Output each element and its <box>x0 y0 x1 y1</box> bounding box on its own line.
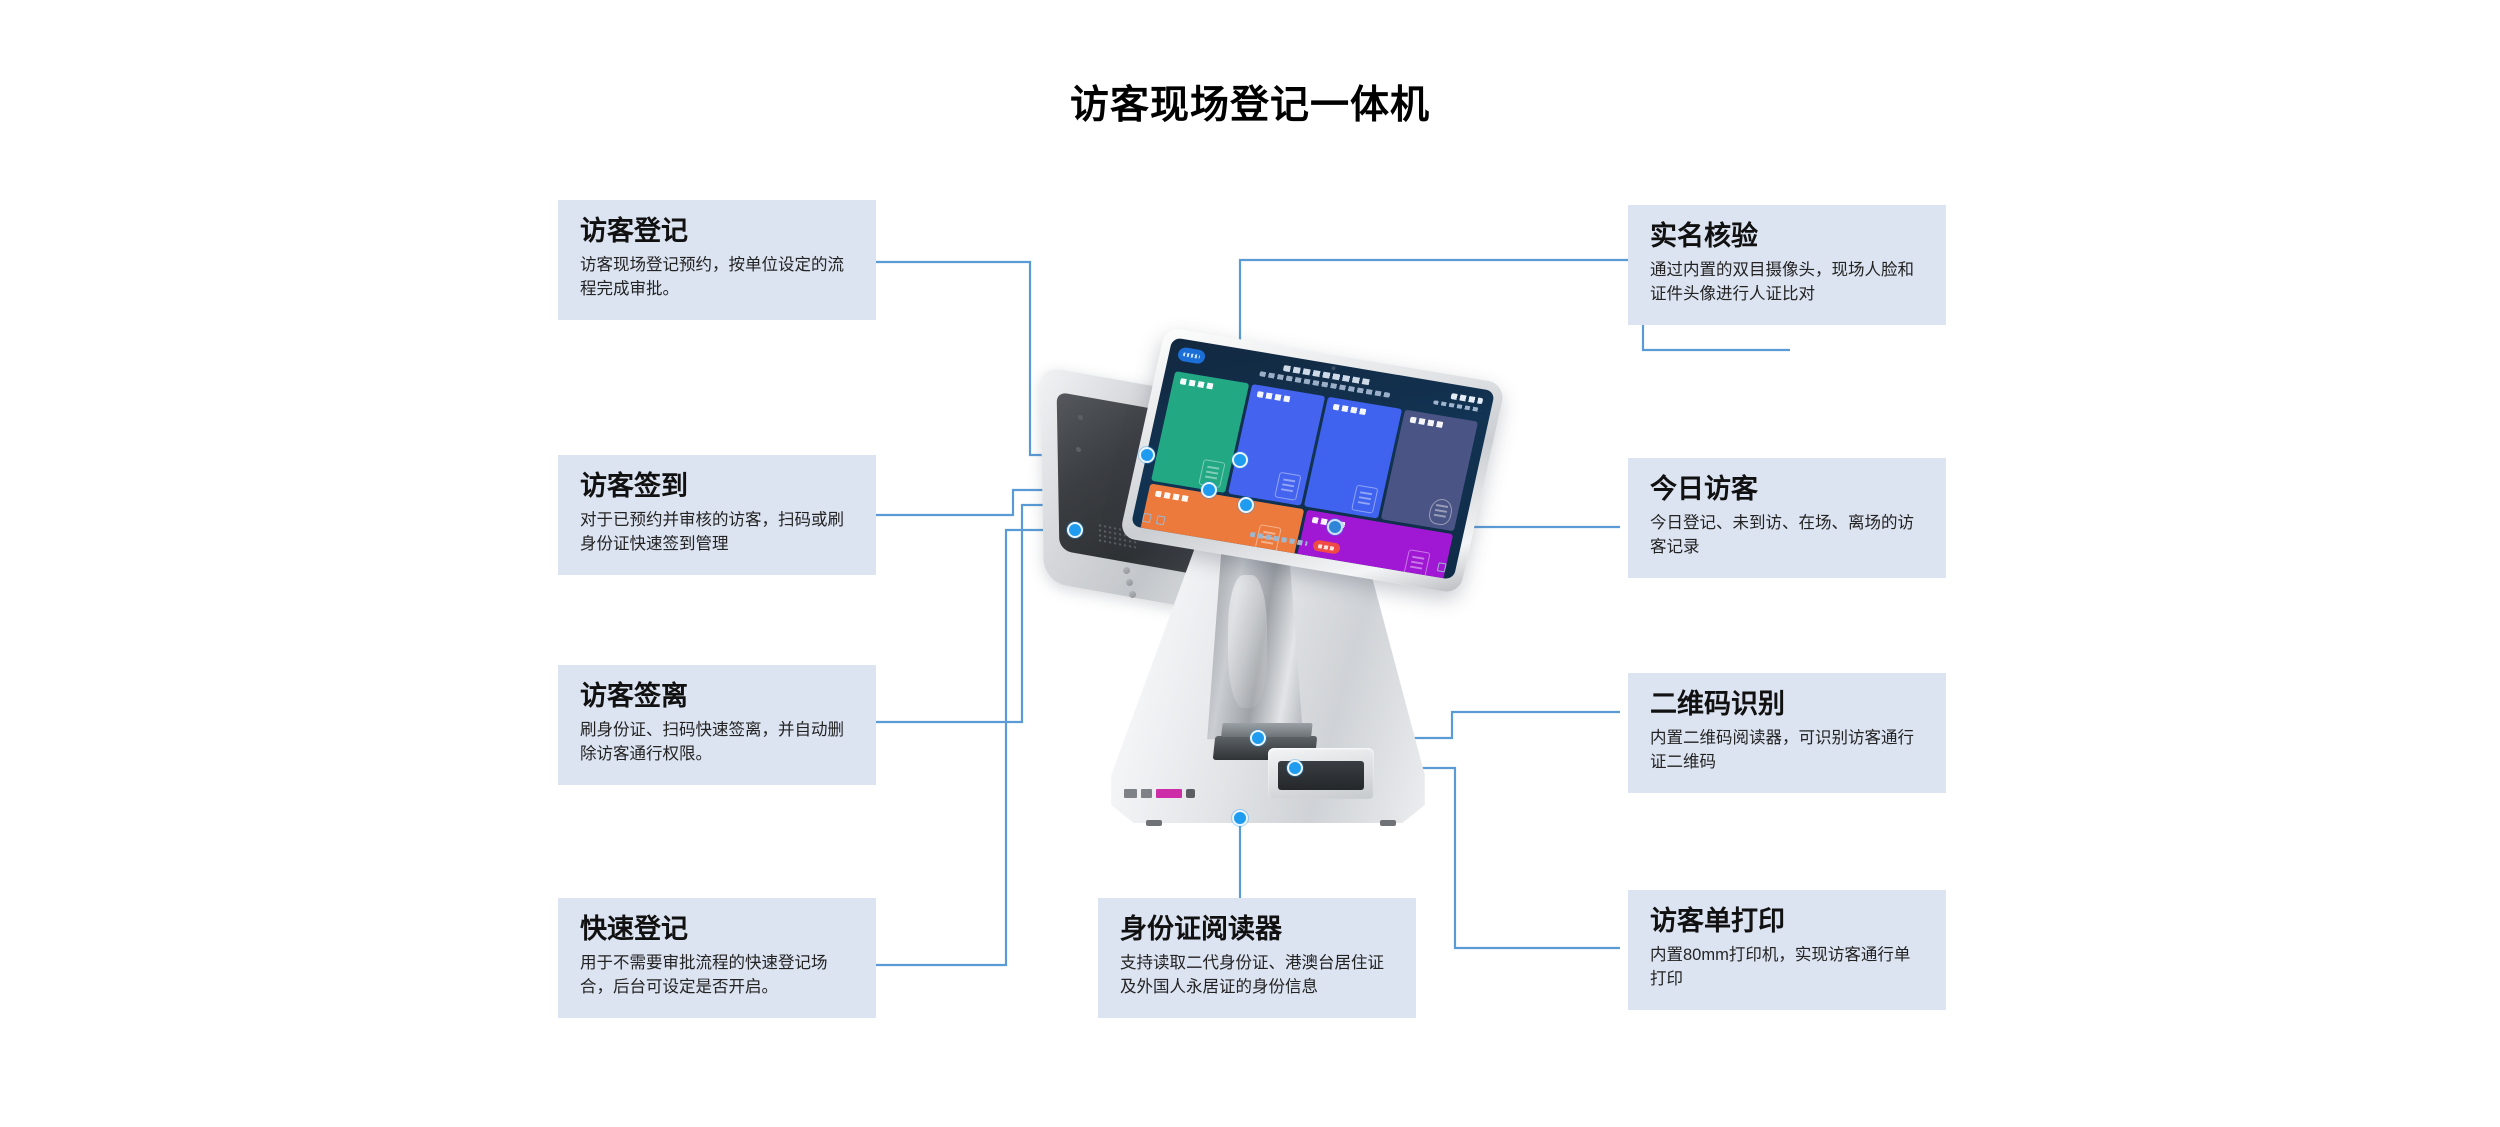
callout-desc: 今日登记、未到访、在场、离场的访客记录 <box>1650 511 1924 561</box>
callout-visitor-checkin[interactable]: 访客签到 对于已预约并审核的访客，扫码或刷身份证快速签到管理 <box>558 455 876 575</box>
settings-icon[interactable] <box>1437 562 1447 572</box>
callout-desc: 内置80mm打印机，实现访客通行单打印 <box>1650 943 1924 993</box>
camera-icon <box>1331 366 1336 371</box>
volume-down-button[interactable] <box>1129 591 1136 598</box>
callout-desc: 对于已预约并审核的访客，扫码或刷身份证快速签到管理 <box>580 508 854 558</box>
callout-real-name-verification[interactable]: 实名核验 通过内置的双目摄像头，现场人脸和证件头像进行人证比对 <box>1628 205 1946 325</box>
hotspot-visitor-checkout[interactable] <box>1238 497 1254 513</box>
callout-title: 访客登记 <box>580 214 854 249</box>
callout-title: 身份证阅读器 <box>1120 912 1394 947</box>
callout-title: 访客签到 <box>580 469 854 504</box>
hotspot-qr-code-reader[interactable] <box>1250 730 1266 746</box>
callout-desc: 刷身份证、扫码快速签离，并自动删除访客通行权限。 <box>580 718 854 768</box>
status-badge <box>1312 539 1341 554</box>
callout-title: 访客签离 <box>580 679 854 714</box>
foot-pad <box>1146 820 1162 826</box>
ethernet-port-icon <box>1186 789 1195 798</box>
hotspot-today-visitors[interactable] <box>1327 519 1343 535</box>
app-logo-icon <box>1177 347 1207 365</box>
thermal-printer-outlet <box>1268 748 1374 799</box>
callout-desc: 用于不需要审批流程的快速登记场合，后台可设定是否开启。 <box>580 951 854 1001</box>
screen-clock <box>1433 390 1483 412</box>
rear-sensor-dot <box>1078 415 1083 421</box>
hotspot-visitor-checkin[interactable] <box>1201 482 1217 498</box>
volume-up-button[interactable] <box>1126 579 1133 586</box>
hotspot-id-card-reader[interactable] <box>1232 810 1248 826</box>
callout-desc: 支持读取二代身份证、港澳台居住证及外国人永居证的身份信息 <box>1120 951 1394 1001</box>
callout-title: 快速登记 <box>580 912 854 947</box>
callout-visitor-checkout[interactable]: 访客签离 刷身份证、扫码快速签离，并自动删除访客通行权限。 <box>558 665 876 785</box>
usb-port-icon <box>1141 789 1152 798</box>
hotspot-printer[interactable] <box>1287 760 1303 776</box>
callout-title: 访客单打印 <box>1650 904 1924 939</box>
power-button[interactable] <box>1123 567 1130 574</box>
infographic-canvas: 访客现场登记一体机 <box>0 0 2500 1127</box>
foot-pad <box>1380 820 1396 826</box>
serial-port-icon <box>1156 789 1182 798</box>
callout-qr-code-recognition[interactable]: 二维码识别 内置二维码阅读器，可识别访客通行证二维码 <box>1628 673 1946 793</box>
today-visitor-stats <box>1349 526 1375 530</box>
network-icon <box>1156 515 1166 525</box>
callout-title: 今日访客 <box>1650 472 1924 507</box>
usb-port-icon <box>1124 789 1137 798</box>
wifi-icon <box>1142 513 1152 523</box>
page-title: 访客现场登记一体机 <box>0 74 2500 130</box>
callout-visitor-registration[interactable]: 访客登记 访客现场登记预约，按单位设定的流程完成审批。 <box>558 200 876 320</box>
callout-desc: 通过内置的双目摄像头，现场人脸和证件头像进行人证比对 <box>1650 258 1924 308</box>
callout-today-visitors[interactable]: 今日访客 今日登记、未到访、在场、离场的访客记录 <box>1628 458 1946 578</box>
primary-display-screen[interactable] <box>1131 337 1495 580</box>
callout-title: 实名核验 <box>1650 219 1924 254</box>
callout-id-card-reader[interactable]: 身份证阅读器 支持读取二代身份证、港澳台居住证及外国人永居证的身份信息 <box>1098 898 1416 1018</box>
callout-quick-registration[interactable]: 快速登记 用于不需要审批流程的快速登记场合，后台可设定是否开启。 <box>558 898 876 1018</box>
callout-visitor-pass-printing[interactable]: 访客单打印 内置80mm打印机，实现访客通行单打印 <box>1628 890 1946 1010</box>
callout-title: 二维码识别 <box>1650 687 1924 722</box>
callout-desc: 内置二维码阅读器，可识别访客通行证二维码 <box>1650 726 1924 776</box>
rear-sensor-dot <box>1076 447 1081 453</box>
hotspot-real-name-verification[interactable] <box>1232 452 1248 468</box>
io-ports <box>1124 781 1233 805</box>
callout-desc: 访客现场登记预约，按单位设定的流程完成审批。 <box>580 253 854 303</box>
hotspot-visitor-registration[interactable] <box>1139 447 1155 463</box>
hotspot-quick-registration[interactable] <box>1067 522 1083 538</box>
kiosk-device <box>1020 355 1490 845</box>
